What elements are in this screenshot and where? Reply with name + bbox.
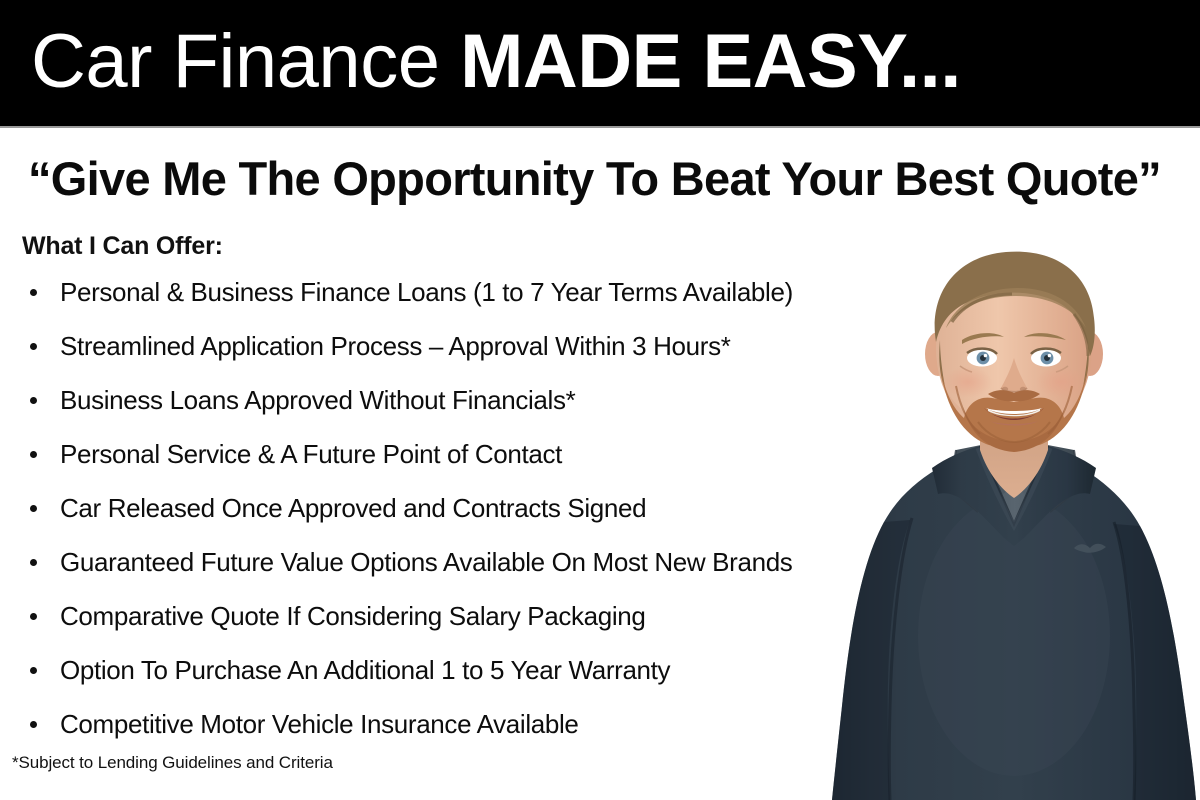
bullet-dot-icon [30,559,37,566]
header-divider [0,126,1200,128]
page-title-bold-part: MADE EASY... [460,19,961,104]
car-finance-poster: Car Finance MADE EASY... “Give Me The Op… [0,0,1200,800]
list-item: Guaranteed Future Value Options Availabl… [22,546,882,600]
list-item-label: Comparative Quote If Considering Salary … [60,601,646,631]
list-item: Option To Purchase An Additional 1 to 5 … [22,654,882,708]
list-item: Car Released Once Approved and Contracts… [22,492,882,546]
bullet-dot-icon [30,613,37,620]
header-band: Car Finance MADE EASY... [0,0,1200,126]
list-item: Personal & Business Finance Loans (1 to … [22,276,882,330]
list-item-label: Business Loans Approved Without Financia… [60,385,575,415]
bullet-dot-icon [30,505,37,512]
page-title: Car Finance MADE EASY... [31,17,961,107]
headline-quote: “Give Me The Opportunity To Beat Your Be… [28,152,1178,206]
list-item-label: Competitive Motor Vehicle Insurance Avai… [60,709,579,739]
footnote-disclaimer: *Subject to Lending Guidelines and Crite… [12,753,333,773]
list-item-label: Personal Service & A Future Point of Con… [60,439,562,469]
bullet-dot-icon [30,397,37,404]
list-item-label: Guaranteed Future Value Options Availabl… [60,547,792,577]
bullet-dot-icon [30,289,37,296]
list-item: Comparative Quote If Considering Salary … [22,600,882,654]
bullet-dot-icon [30,343,37,350]
portrait-photo [828,236,1200,800]
bullet-dot-icon [30,721,37,728]
page-title-light-part: Car Finance [31,19,460,104]
offer-bullet-list: Personal & Business Finance Loans (1 to … [22,276,882,762]
list-item: Business Loans Approved Without Financia… [22,384,882,438]
offer-list-heading: What I Can Offer: [22,232,223,261]
list-item: Streamlined Application Process – Approv… [22,330,882,384]
bullet-dot-icon [30,667,37,674]
list-item-label: Personal & Business Finance Loans (1 to … [60,277,793,307]
list-item-label: Option To Purchase An Additional 1 to 5 … [60,655,670,685]
list-item: Personal Service & A Future Point of Con… [22,438,882,492]
bullet-dot-icon [30,451,37,458]
list-item-label: Car Released Once Approved and Contracts… [60,493,646,523]
list-item-label: Streamlined Application Process – Approv… [60,331,731,361]
